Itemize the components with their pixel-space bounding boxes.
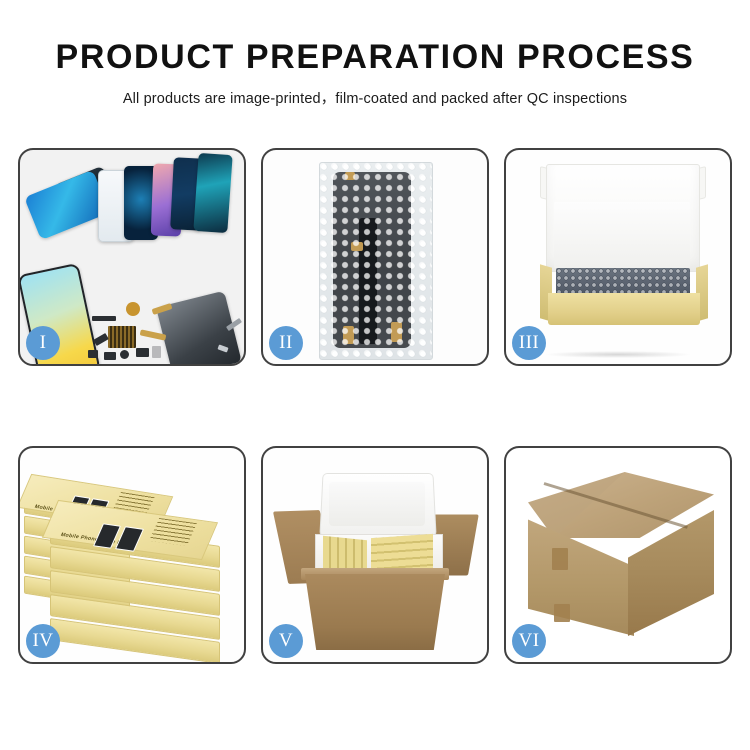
step-badge-6: VI — [512, 624, 546, 658]
box-foam-insert — [554, 202, 690, 268]
step-panel-5: V — [261, 446, 489, 664]
part-sim-tray — [152, 346, 161, 358]
page-subtitle: All products are image-printed，film-coat… — [0, 87, 750, 108]
process-step-grid: I II — [18, 148, 732, 688]
sealed-carton — [528, 472, 714, 636]
step-badge-5: V — [269, 624, 303, 658]
page-title: PRODUCT PREPARATION PROCESS — [0, 40, 750, 76]
header: PRODUCT PREPARATION PROCESS All products… — [0, 0, 750, 108]
part-connector — [92, 316, 116, 321]
step-badge-4: IV — [26, 624, 60, 658]
phone-screen-teal — [193, 153, 232, 233]
step-panel-4: Mobile Phone Spare Parts Mobile Phone Sp… — [18, 446, 246, 664]
bubble-wrap-sheen — [319, 162, 431, 358]
step-badge-3: III — [512, 326, 546, 360]
part-bracket-2 — [88, 350, 98, 358]
product-preparation-infographic: PRODUCT PREPARATION PROCESS All products… — [0, 0, 750, 750]
box-front-panel — [548, 293, 700, 325]
bubble-wrapped-contents — [556, 268, 690, 296]
part-button — [120, 350, 129, 359]
step-panel-1: I — [18, 148, 246, 366]
part-bracket-3 — [104, 352, 116, 360]
carton-body — [305, 574, 445, 650]
step-badge-1: I — [26, 326, 60, 360]
drop-shadow — [546, 351, 689, 358]
step-panel-6: VI — [504, 446, 732, 664]
part-logic-board — [108, 326, 136, 348]
carton-tape-upper — [552, 548, 568, 570]
box-stack: Mobile Phone Spare Parts Mobile Phone Sp… — [22, 470, 244, 650]
step-badge-2: II — [269, 326, 303, 360]
step-panel-3: III — [504, 148, 732, 366]
part-bracket-1 — [93, 333, 109, 346]
step-panel-2: II — [261, 148, 489, 366]
carton-tape-lower — [554, 604, 570, 622]
part-speaker — [126, 302, 140, 316]
part-camera-module — [136, 348, 149, 357]
foam-lid-inner — [329, 482, 425, 526]
